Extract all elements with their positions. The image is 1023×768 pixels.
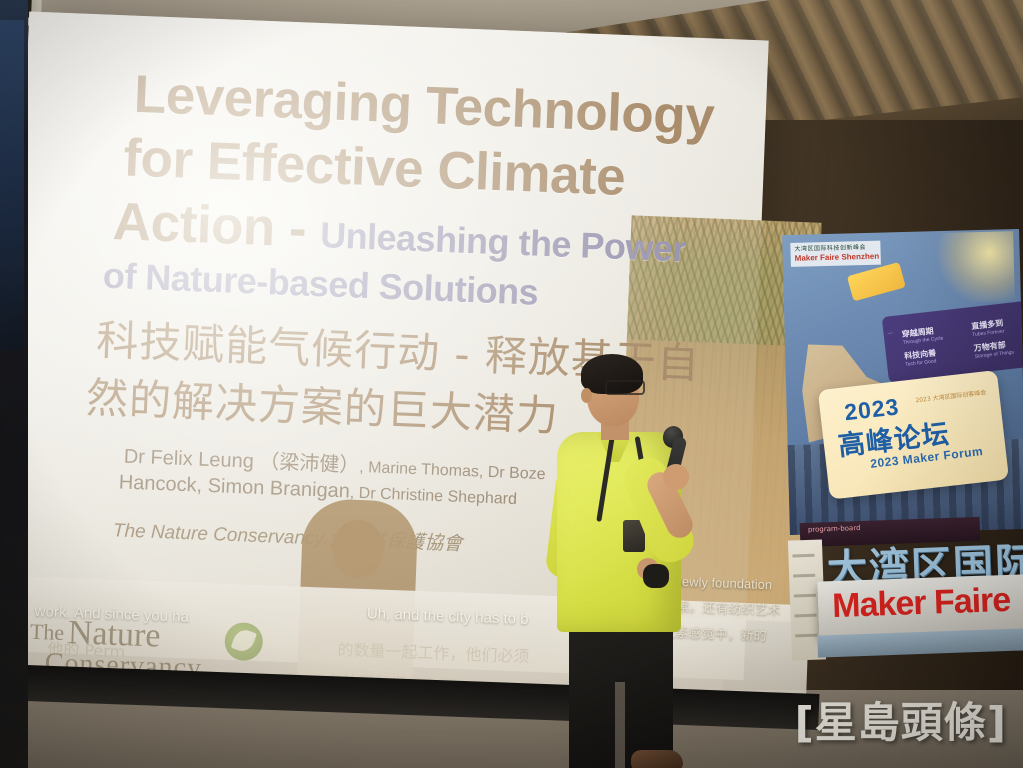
speaker-leg-gap — [615, 682, 625, 768]
event-date-text: program-board — [808, 524, 861, 534]
speaker-ear — [581, 388, 592, 403]
poster-header-cn: 大湾区国际科技创新峰会 — [794, 242, 866, 253]
author-felix-leung-cn: （梁沛健） — [259, 451, 360, 477]
poster-bullet-0: — — [887, 330, 893, 337]
speaker-presenter — [545, 352, 715, 768]
slide-title-action: Action - — [112, 192, 322, 259]
poster-header-en: Maker Faire Shenzhen — [795, 252, 880, 263]
speaker-right-hand — [663, 464, 689, 490]
caption-cn-line-2: 的数量一起工作，他们必须 — [337, 636, 530, 667]
author-felix-leung: Dr Felix Leung — [123, 446, 259, 473]
authors-line-1-rest: , Marine Thomas, Dr Boze — [359, 459, 546, 483]
speaker-shoe — [631, 750, 683, 768]
slide-subtitle-part-1: Unleashing the Power — [319, 214, 686, 269]
watermark-text: 星島頭條 — [815, 698, 987, 747]
speaker-shadow-head — [332, 520, 384, 578]
screenshot-stage: Leveraging Technology for Effective Clim… — [0, 0, 1023, 768]
maker-faire-signage: 大湾区国际 Maker Faire — [804, 530, 1023, 664]
poster-forum-card: 2023 2023 大湾区国际创客峰会 高峰论坛 2023 Maker Foru… — [818, 370, 1009, 500]
poster-yellow-tag — [847, 262, 906, 301]
watermark-bracket-left: [ — [795, 698, 815, 747]
poster-header-block: 大湾区国际科技创新峰会 Maker Faire Shenzhen — [790, 241, 881, 267]
left-blue-panel — [0, 20, 24, 350]
maker-faire-board: Maker Faire — [817, 574, 1023, 638]
poster-spotlight-glow — [933, 231, 1015, 303]
caption-en-line-2: Uh, and the city has to b — [367, 605, 529, 628]
maker-faire-brand: Maker Faire — [832, 581, 1011, 626]
watermark-bracket-right: ] — [987, 698, 1007, 747]
tnc-leaf-icon — [224, 622, 263, 661]
poster-purple-panel: 穿越周期 Through the Cycle 科技向善 Tech for Goo… — [882, 300, 1023, 383]
speaker-held-clicker — [643, 564, 669, 588]
maker-forum-poster: 大湾区国际科技创新峰会 Maker Faire Shenzhen 穿越周期 Th… — [782, 229, 1023, 535]
news-watermark: [星島頭條] — [795, 689, 1007, 750]
speaker-glasses — [605, 380, 645, 395]
poster-tiny-cn: 2023 大湾区国际创客峰会 — [915, 387, 987, 404]
tnc-logo-the: The — [29, 619, 64, 646]
